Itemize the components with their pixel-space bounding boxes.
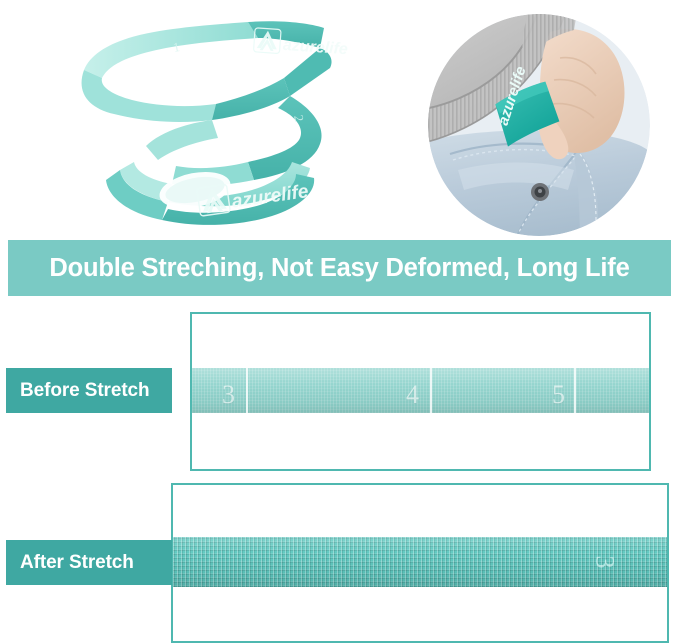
infographic-canvas: azurelife azurelife 1 2	[0, 0, 679, 644]
before-stretch-band: 3 4 5	[192, 368, 649, 413]
after-stretch-chip: After Stretch	[6, 540, 172, 585]
before-segment-number: 3	[222, 382, 235, 408]
before-stretch-chip: Before Stretch	[6, 368, 172, 413]
before-band-divider	[574, 368, 576, 413]
before-segment-number: 4	[406, 382, 419, 408]
after-stretch-label: After Stretch	[6, 552, 134, 574]
headline-banner: Double Streching, Not Easy Deformed, Lon…	[8, 240, 671, 296]
before-stretch-label: Before Stretch	[6, 380, 150, 402]
pocket-lifestyle-photo: azurelife	[428, 14, 650, 236]
headline-text: Double Streching, Not Easy Deformed, Lon…	[49, 254, 629, 283]
before-segment-number: 5	[552, 382, 565, 408]
band-product-photo: azurelife azurelife 1 2	[62, 4, 352, 236]
before-band-divider	[246, 368, 248, 413]
before-band-sheen	[192, 368, 649, 413]
svg-text:azurelife: azurelife	[282, 37, 348, 58]
after-band-mark: 3	[592, 556, 618, 569]
before-band-divider	[430, 368, 432, 413]
